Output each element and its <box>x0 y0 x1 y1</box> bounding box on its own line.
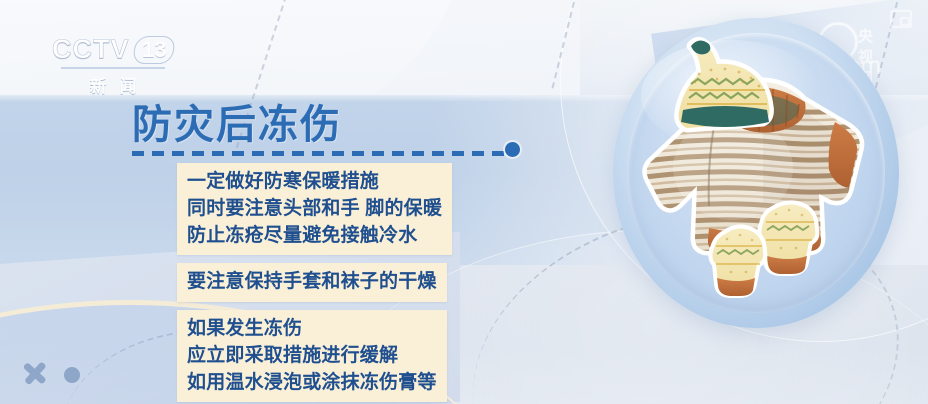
content-line: 同时要注意头部和手 脚的保暖 <box>187 195 442 222</box>
headline-text: 防灾后冻伤 <box>132 104 342 146</box>
broadcast-graphic: CCTV 13 新闻 CCTV 央视网 com 防灾后冻伤 一定做好防寒保暖措施… <box>0 0 928 404</box>
channel-number-badge: 13 <box>131 36 176 64</box>
content-block: 如果发生冻伤 应立即采取措施进行缓解 如用温水浸泡或涂抹冻伤膏等 <box>177 310 447 402</box>
channel-logo: CCTV 13 新闻 <box>52 34 174 97</box>
content-block-list: 一定做好防寒保暖措施 同时要注意头部和手 脚的保暖 防止冻疮尽量避免接触冷水 要… <box>177 163 452 402</box>
channel-logo-row: CCTV 13 <box>52 34 174 65</box>
content-line: 防止冻疮尽量避免接触冷水 <box>187 222 442 249</box>
channel-subtitle: 新闻 <box>76 72 149 97</box>
headline-end-dot <box>505 142 520 157</box>
decorative-dot <box>64 367 80 383</box>
content-line: 如果发生冻伤 <box>187 315 437 342</box>
headline: 防灾后冻伤 <box>132 104 342 146</box>
channel-number: 13 <box>142 37 166 63</box>
content-line: 应立即采取措施进行缓解 <box>187 342 437 369</box>
headline-dashed-rule <box>132 151 514 156</box>
content-block: 要注意保持手套和袜子的干燥 <box>177 263 447 301</box>
content-block: 一定做好防寒保暖措施 同时要注意头部和手 脚的保暖 防止冻疮尽量避免接触冷水 <box>177 163 452 255</box>
content-line: 一定做好防寒保暖措施 <box>187 168 442 195</box>
content-line: 如用温水浸泡或涂抹冻伤膏等 <box>187 369 437 396</box>
channel-name: CCTV <box>52 34 130 65</box>
channel-logo-divider <box>61 67 165 69</box>
dashed-guide-line <box>552 0 583 88</box>
content-line: 要注意保持手套和袜子的干燥 <box>187 268 437 295</box>
sparkle-icon <box>17 355 54 392</box>
winter-clothing-illustration: 冬季保暖衣物：条纹毛衣、针织帽、手套 <box>613 18 899 328</box>
